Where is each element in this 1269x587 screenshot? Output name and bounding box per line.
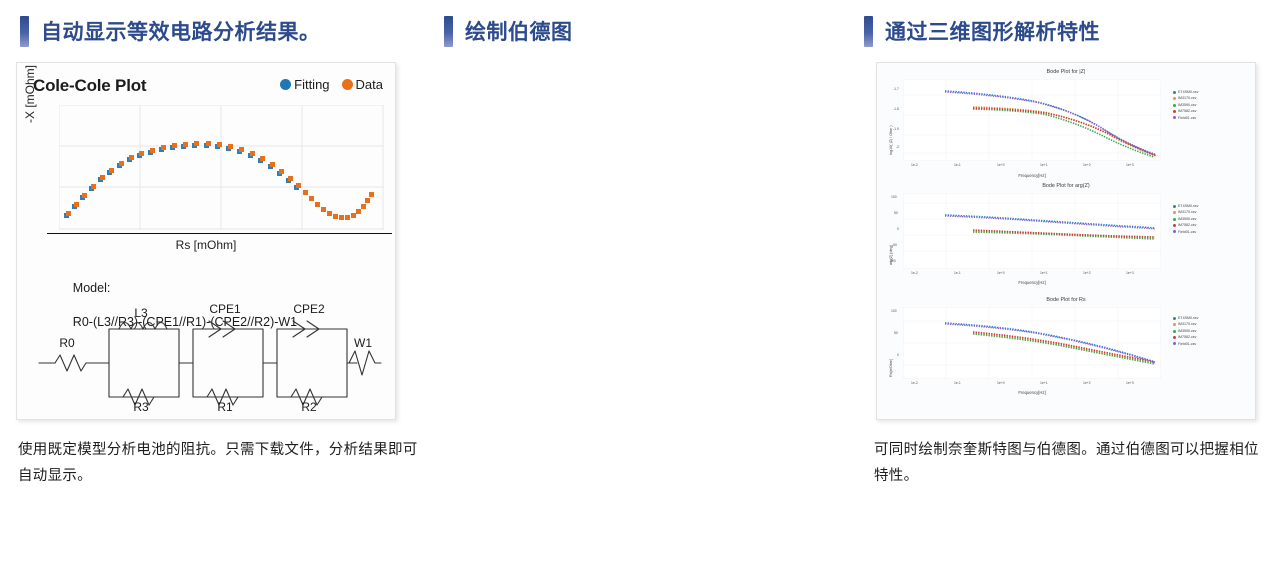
panel-bode-plot: 绘制伯德图 Bode Plot for |Z| log10( |Z| / Ohm…	[430, 0, 850, 587]
panel-2-heading: 绘制伯德图	[444, 14, 834, 48]
legend-dot-fitting	[280, 79, 291, 90]
circuit-label-r1: R1	[217, 400, 233, 411]
panel-equivalent-circuit: 自动显示等效电路分析结果。 Cole-Cole Plot Fitting Dat…	[0, 0, 430, 587]
heading-accent-bar	[20, 16, 29, 47]
panel-1-caption-line-1: 使用既定模型分析电池的阻抗。只需下载文件，分析结果即可自动显示。	[18, 437, 418, 489]
model-label: Model:	[73, 281, 111, 295]
circuit-label-l3: L3	[134, 306, 148, 320]
heading-accent-bar	[864, 16, 873, 47]
cole-cole-scatter-plot	[59, 105, 384, 230]
series-data	[66, 141, 374, 220]
circuit-label-r0: R0	[59, 336, 75, 350]
cole-cole-figure-card: Cole-Cole Plot Fitting Data -X [mOhm]	[16, 62, 396, 420]
panel-2-heading-text: 绘制伯德图	[465, 16, 573, 46]
cole-cole-y-axis-label: -X [mOhm]	[23, 65, 37, 123]
legend-label-fitting: Fitting	[294, 77, 329, 92]
feature-panels: 自动显示等效电路分析结果。 Cole-Cole Plot Fitting Dat…	[0, 0, 1269, 587]
circuit-label-cpe2: CPE2	[293, 302, 325, 316]
panel-1-heading-text: 自动显示等效电路分析结果。	[41, 16, 321, 46]
series-fitting	[64, 143, 299, 218]
panel-3d-graph: 通过三维图形解析特性 Cole-Cole Plot	[850, 0, 1269, 587]
legend-label-data: Data	[356, 77, 383, 92]
legend-dot-data	[342, 79, 353, 90]
panel-1-caption: 使用既定模型分析电池的阻抗。只需下载文件，分析结果即可自动显示。	[18, 437, 418, 489]
circuit-label-cpe1: CPE1	[209, 302, 241, 316]
panel-3-heading-text: 通过三维图形解析特性	[885, 16, 1100, 46]
circuit-label-w1: W1	[354, 336, 372, 350]
cole-cole-x-axis-label: Rs [mOhm]	[17, 238, 395, 252]
panel-3-heading: 通过三维图形解析特性	[864, 14, 1259, 48]
equivalent-circuit-diagram: R0 L3 R3 CPE1 R1 CPE2 R2 W1	[37, 301, 382, 411]
cole-cole-legend: Fitting Data	[280, 77, 383, 92]
panel-1-heading: 自动显示等效电路分析结果。	[20, 14, 414, 48]
cole-cole-title: Cole-Cole Plot	[33, 76, 146, 96]
circuit-label-r3: R3	[133, 400, 149, 411]
heading-accent-bar	[444, 16, 453, 47]
cole-cole-x-axis-line	[47, 233, 392, 234]
circuit-label-r2: R2	[301, 400, 317, 411]
